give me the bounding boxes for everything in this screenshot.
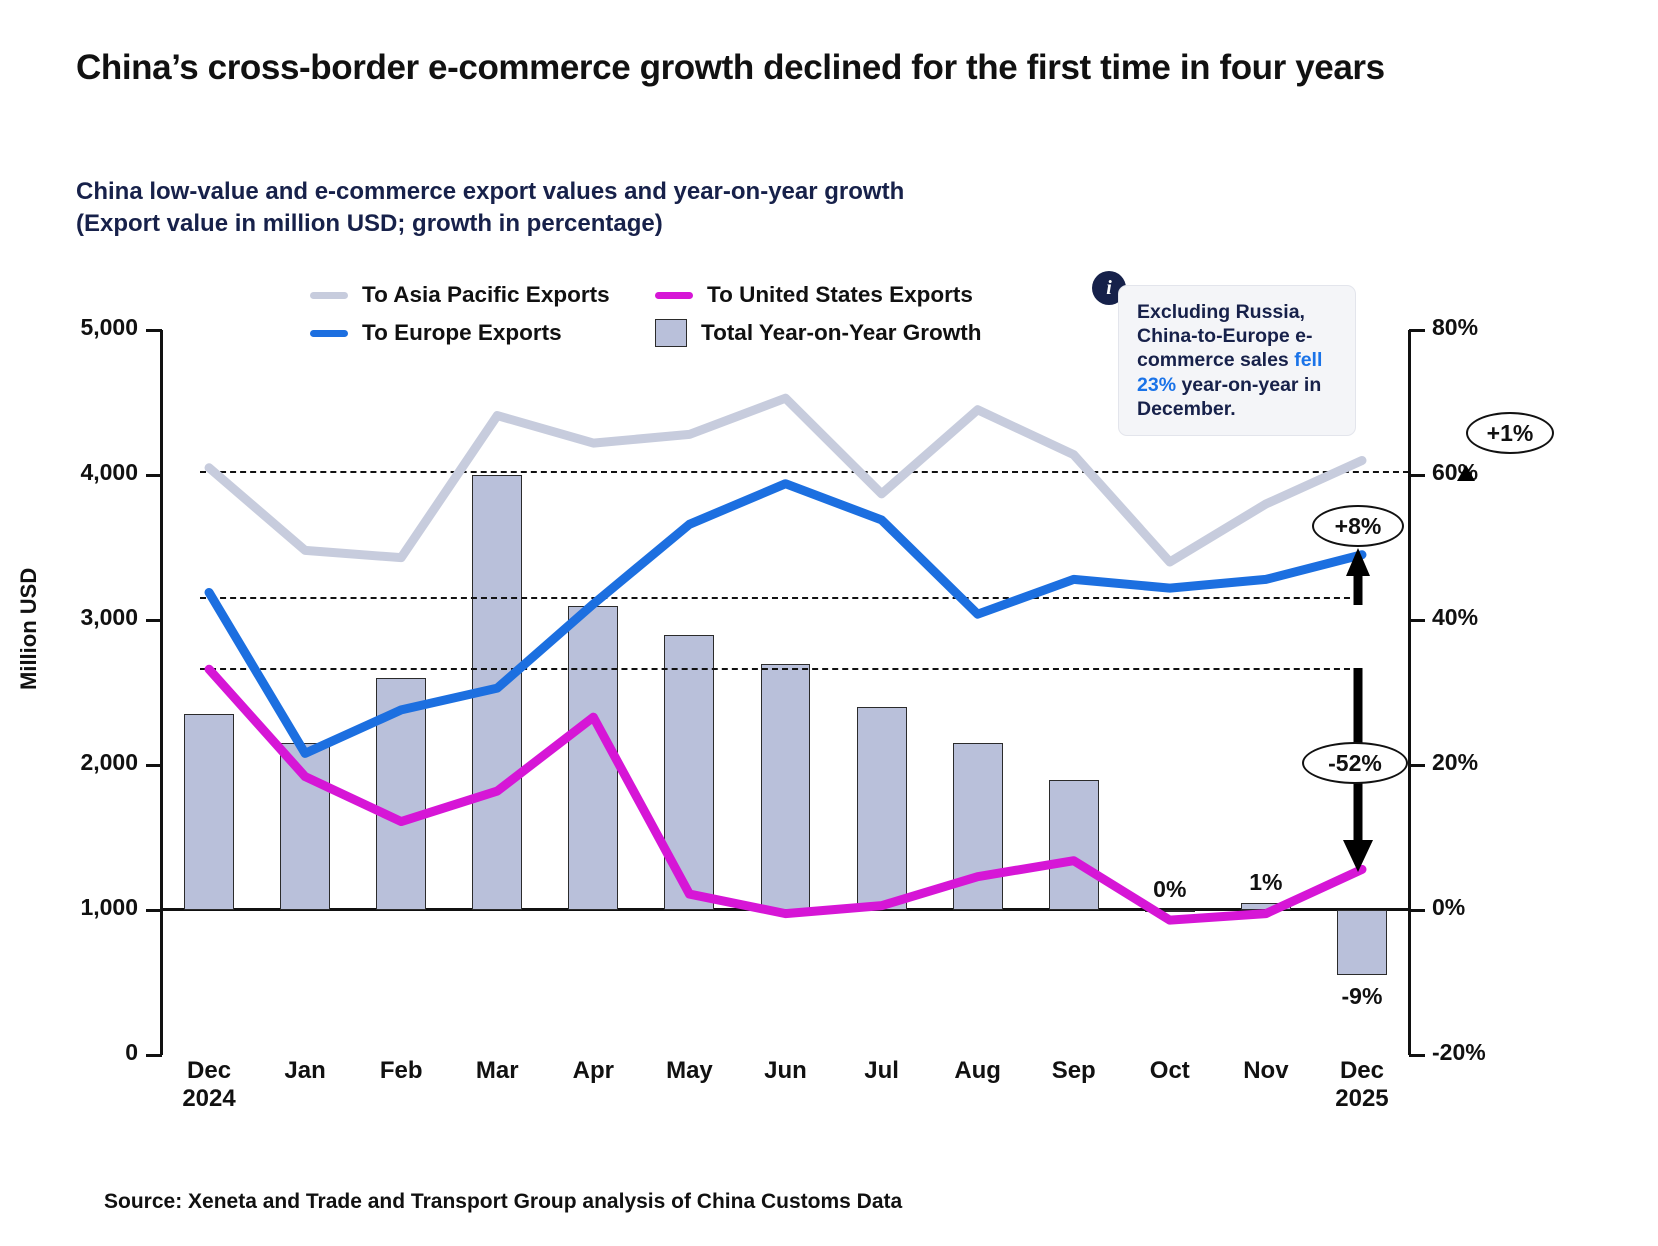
x-tick-month: Jan: [284, 1057, 325, 1084]
bar-total-growth: [568, 606, 618, 911]
x-tick-year: 2024: [182, 1085, 235, 1112]
x-tick-month: Aug: [954, 1057, 1001, 1084]
bar-total-growth: [1337, 910, 1387, 975]
legend-item-united-states[interactable]: To United States Exports: [655, 282, 973, 308]
bar-total-growth: [1241, 903, 1291, 910]
bar-value-label: -9%: [1307, 983, 1417, 1010]
europe-change-label: +8%: [1335, 513, 1382, 540]
legend-line-europe: [310, 330, 348, 337]
x-tick-month: Jun: [764, 1057, 807, 1084]
legend-line-asia-pacific: [310, 292, 348, 299]
x-tick-month: Feb: [380, 1057, 423, 1084]
legend-label-total-growth: Total Year-on-Year Growth: [701, 320, 981, 346]
y-tick-mark-left: [146, 909, 162, 912]
y-tick-right: -20%: [1432, 1039, 1572, 1066]
y-tick-left: 1,000: [18, 894, 138, 921]
y-tick-left: 4,000: [18, 459, 138, 486]
y-tick-right: 40%: [1432, 604, 1572, 631]
bar-total-growth: [761, 664, 811, 911]
y-tick-left: 2,000: [18, 749, 138, 776]
page-title: China’s cross-border e-commerce growth d…: [76, 48, 1596, 88]
us-change-pill: -52%: [1302, 742, 1408, 784]
callout-text-before: Excluding Russia, China-to-Europe e-comm…: [1137, 301, 1313, 371]
y-tick-mark-left: [146, 474, 162, 477]
x-tick-month: Jul: [864, 1057, 899, 1084]
legend-item-total-growth[interactable]: Total Year-on-Year Growth: [655, 319, 981, 347]
bar-total-growth: [1145, 910, 1195, 912]
legend-item-asia-pacific[interactable]: To Asia Pacific Exports: [310, 282, 655, 308]
reference-line-europe: [200, 597, 1360, 599]
asia-change-pill: +1%: [1466, 412, 1554, 454]
us-change-label: -52%: [1328, 750, 1382, 777]
y-tick-left: 0: [18, 1039, 138, 1066]
bar-total-growth: [664, 635, 714, 911]
source-note: Source: Xeneta and Trade and Transport G…: [104, 1190, 902, 1214]
legend-row-2: To Europe Exports Total Year-on-Year Gro…: [310, 314, 1030, 352]
legend-label-europe: To Europe Exports: [362, 320, 562, 346]
x-tick-month: Dec: [187, 1057, 231, 1084]
legend-label-united-states: To United States Exports: [707, 282, 973, 308]
bar-total-growth: [280, 743, 330, 910]
bar-total-growth: [376, 678, 426, 910]
y-tick-mark-right: [1409, 909, 1425, 912]
x-tick-label: Dec2025: [1302, 1057, 1422, 1114]
x-tick-month: Mar: [476, 1057, 519, 1084]
chart-legend: To Asia Pacific Exports To United States…: [310, 276, 1030, 352]
y-axis-left: [160, 330, 163, 1055]
subtitle-line-2: (Export value in million USD; growth in …: [76, 208, 1176, 240]
y-tick-mark-left: [146, 619, 162, 622]
y-tick-left: 5,000: [18, 314, 138, 341]
y-tick-mark-left: [146, 329, 162, 332]
bar-total-growth: [857, 707, 907, 910]
y-tick-right: 60%: [1432, 459, 1572, 486]
reference-line-asia: [200, 471, 1409, 473]
asia-change-label: +1%: [1487, 420, 1534, 447]
legend-label-asia-pacific: To Asia Pacific Exports: [362, 282, 610, 308]
y-tick-right: 0%: [1432, 894, 1572, 921]
reference-line-us: [200, 668, 1360, 670]
y-tick-mark-right: [1409, 619, 1425, 622]
legend-swatch-total-growth: [655, 319, 687, 347]
y-tick-mark-right: [1409, 764, 1425, 767]
x-tick-month: Sep: [1052, 1057, 1096, 1084]
subtitle-line-1: China low-value and e-commerce export va…: [76, 178, 904, 205]
europe-change-pill: +8%: [1312, 505, 1404, 547]
y-tick-mark-right: [1409, 329, 1425, 332]
bar-total-growth: [184, 714, 234, 910]
legend-line-united-states: [655, 292, 693, 299]
legend-row-1: To Asia Pacific Exports To United States…: [310, 276, 1030, 314]
y-tick-left: 3,000: [18, 604, 138, 631]
bar-total-growth: [472, 475, 522, 910]
y-axis-right: [1408, 330, 1411, 1055]
x-tick-month: Apr: [573, 1057, 614, 1084]
chart-subtitle: China low-value and e-commerce export va…: [76, 176, 1176, 239]
legend-item-europe[interactable]: To Europe Exports: [310, 320, 655, 346]
y-tick-mark-left: [146, 764, 162, 767]
x-tick-month: Nov: [1243, 1057, 1288, 1084]
bar-total-growth: [953, 743, 1003, 910]
y-tick-mark-right: [1409, 474, 1425, 477]
bar-total-growth: [1049, 780, 1099, 911]
callout-box: Excluding Russia, China-to-Europe e-comm…: [1118, 285, 1356, 436]
x-tick-month: Dec: [1340, 1057, 1384, 1084]
y-tick-right: 20%: [1432, 749, 1572, 776]
y-tick-right: 80%: [1432, 314, 1572, 341]
x-tick-month: Oct: [1150, 1057, 1190, 1084]
bar-value-label: 0%: [1115, 876, 1225, 903]
x-tick-year: 2025: [1335, 1085, 1388, 1112]
bar-value-label: 1%: [1211, 869, 1321, 896]
x-tick-month: May: [666, 1057, 713, 1084]
